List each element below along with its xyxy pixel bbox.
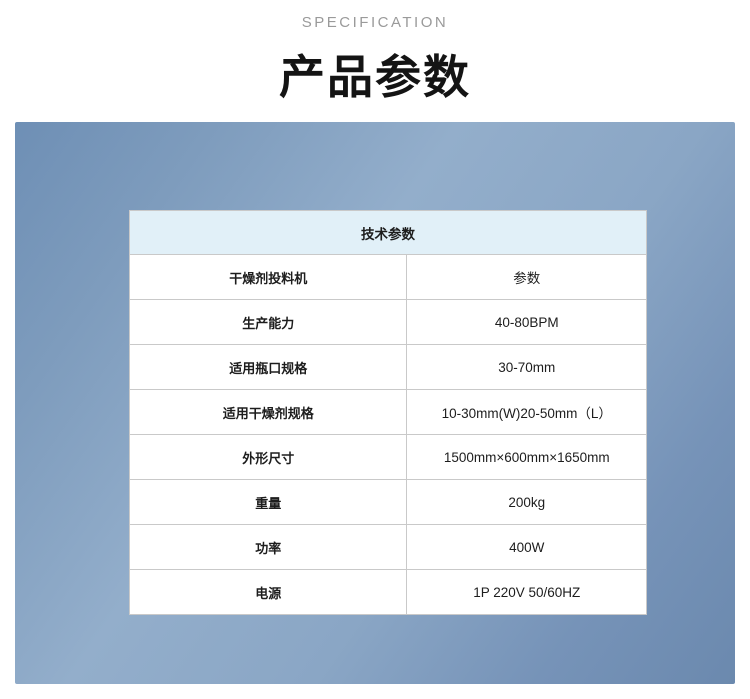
row-value: 1P 220V 50/60HZ	[407, 570, 647, 615]
table-row: 适用瓶口规格 30-70mm	[130, 345, 647, 390]
row-value: 10-30mm(W)20-50mm（L）	[407, 390, 647, 435]
row-value: 400W	[407, 525, 647, 570]
table-row: 重量 200kg	[130, 480, 647, 525]
row-label: 重量	[130, 480, 407, 525]
table-row: 外形尺寸 1500mm×600mm×1650mm	[130, 435, 647, 480]
row-value: 参数	[407, 255, 647, 300]
spec-table: 技术参数 干燥剂投料机 参数 生产能力 40-80BPM 适用瓶口规格 30-7…	[129, 210, 647, 615]
table-caption-cell: 技术参数	[130, 211, 647, 255]
row-value: 1500mm×600mm×1650mm	[407, 435, 647, 480]
row-label: 外形尺寸	[130, 435, 407, 480]
table-row: 功率 400W	[130, 525, 647, 570]
row-label: 干燥剂投料机	[130, 255, 407, 300]
row-label: 生产能力	[130, 300, 407, 345]
table-row: 电源 1P 220V 50/60HZ	[130, 570, 647, 615]
spec-panel: 技术参数 干燥剂投料机 参数 生产能力 40-80BPM 适用瓶口规格 30-7…	[15, 122, 735, 684]
page-header: SPECIFICATION 产品参数	[0, 0, 750, 107]
table-row: 干燥剂投料机 参数	[130, 255, 647, 300]
page-eyebrow: SPECIFICATION	[0, 14, 750, 31]
row-label: 适用瓶口规格	[130, 345, 407, 390]
row-value: 40-80BPM	[407, 300, 647, 345]
row-value: 200kg	[407, 480, 647, 525]
row-label: 电源	[130, 570, 407, 615]
row-label: 功率	[130, 525, 407, 570]
table-row: 生产能力 40-80BPM	[130, 300, 647, 345]
spec-table-body: 技术参数 干燥剂投料机 参数 生产能力 40-80BPM 适用瓶口规格 30-7…	[130, 211, 647, 615]
specification-page: SPECIFICATION 产品参数 技术参数 干燥剂投料机 参数 生产能力 4…	[0, 0, 750, 699]
table-row: 适用干燥剂规格 10-30mm(W)20-50mm（L）	[130, 390, 647, 435]
page-title: 产品参数	[0, 41, 750, 107]
row-label: 适用干燥剂规格	[130, 390, 407, 435]
table-caption-row: 技术参数	[130, 211, 647, 255]
row-value: 30-70mm	[407, 345, 647, 390]
